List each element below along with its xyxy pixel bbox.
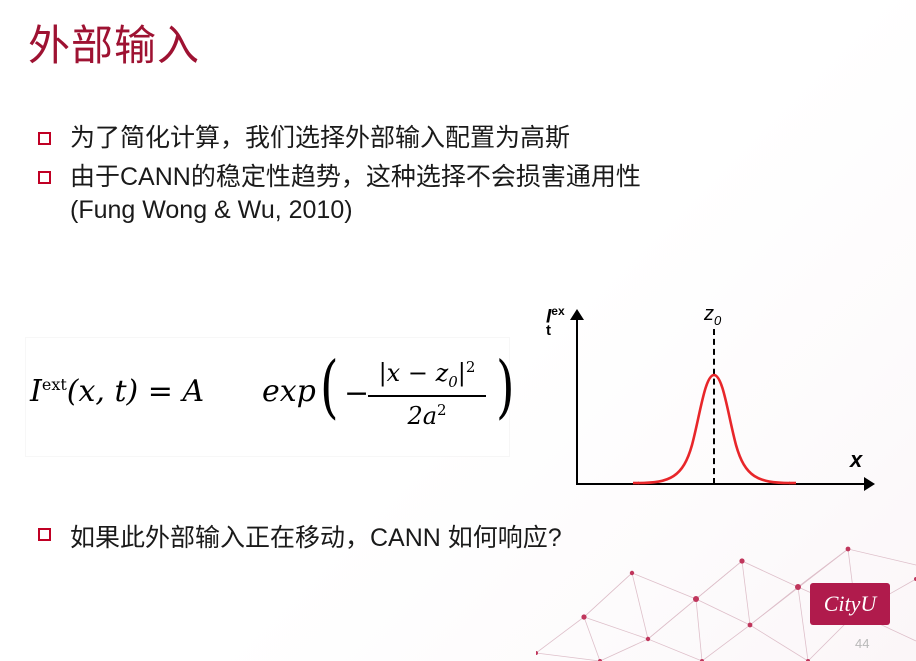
gaussian-curve xyxy=(520,295,890,505)
page-number: 44 xyxy=(855,636,869,651)
equation-lhs: Iext(x, t) = A xyxy=(30,374,204,409)
slide: 外部输入 为了简化计算，我们选择外部输入配置为高斯 由于CANN的稳定性趋势，这… xyxy=(0,0,916,661)
equation-denominator: 2a2 xyxy=(365,401,489,430)
equation-paren-right: ) xyxy=(496,354,515,422)
equation-numerator: |x − z0|2 xyxy=(365,358,489,391)
list-item: 如果此外部输入正在移动，CANN 如何响应? xyxy=(34,518,870,554)
gaussian-plot: Iex t x z0 xyxy=(520,295,890,505)
equation-paren-left: ( xyxy=(320,354,339,422)
cityu-logo-text: CityU xyxy=(810,591,890,617)
bullet-citation: (Fung Wong & Wu, 2010) xyxy=(70,194,874,227)
equation-fraction: |x − z0|2 2a2 xyxy=(365,358,489,430)
equation-lhs-args: (x, t) = A xyxy=(67,374,204,409)
bullet-text: 为了简化计算，我们选择外部输入配置为高斯 xyxy=(70,124,570,152)
bullet-list: 为了简化计算，我们选择外部输入配置为高斯 由于CANN的稳定性趋势，这种选择不会… xyxy=(34,122,874,233)
list-item: 为了简化计算，我们选择外部输入配置为高斯 xyxy=(34,122,874,155)
fraction-bar xyxy=(368,395,486,397)
cityu-logo: CityU xyxy=(810,583,890,625)
equation-exp: exp xyxy=(262,374,316,409)
bullet-square-icon xyxy=(38,528,51,541)
bullet-text: 如果此外部输入正在移动，CANN 如何响应? xyxy=(70,524,562,552)
page-title: 外部输入 xyxy=(28,12,200,73)
bullet-text: 由于CANN的稳定性趋势，这种选择不会损害通用性 xyxy=(70,163,641,191)
equation-lhs-superscript: ext xyxy=(42,375,67,394)
bullet-square-icon xyxy=(38,171,51,184)
bullet-square-icon xyxy=(38,132,51,145)
list-item: 由于CANN的稳定性趋势，这种选择不会损害通用性 (Fung Wong & Wu… xyxy=(34,161,874,227)
formula-box: Iext(x, t) = A exp ( − |x − z0|2 2a2 ) xyxy=(26,338,509,456)
equation: Iext(x, t) = A exp ( − |x − z0|2 2a2 ) xyxy=(26,338,509,456)
